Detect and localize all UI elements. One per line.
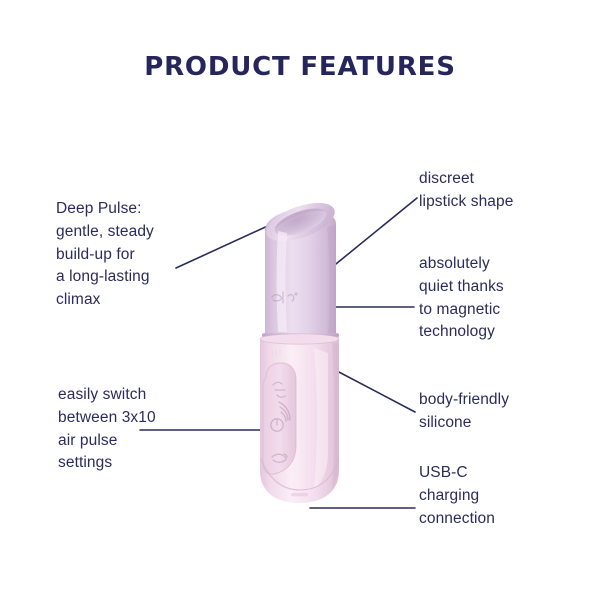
callout-quiet-magnetic: absolutely quiet thanks to magnetic tech… [419,253,589,344]
callout-air-pulse: easily switch between 3x10 air pulse set… [58,384,208,475]
callout-lipstick-shape: discreet lipstick shape [419,168,589,214]
control-panel[interactable] [263,363,296,474]
product-illustration [248,193,352,511]
infographic-canvas: PRODUCT FEATURES [0,0,600,600]
callout-usb-c: USB-C charging connection [419,462,589,530]
callout-deep-pulse: Deep Pulse: gentle, steady build-up for … [56,198,216,312]
usb-c-port [291,493,308,496]
callout-silicone: body-friendly silicone [419,389,589,435]
product-cap [261,195,339,333]
page-title: PRODUCT FEATURES [0,52,600,82]
